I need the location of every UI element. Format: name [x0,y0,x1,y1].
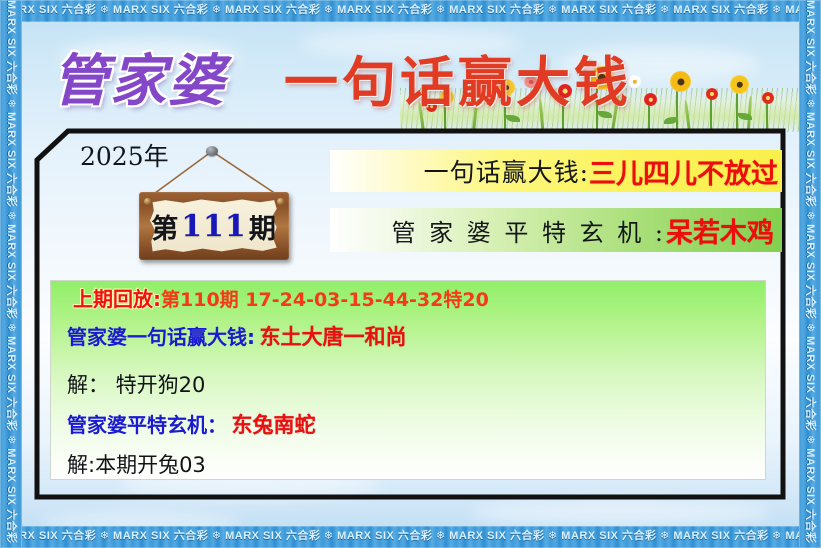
border-right-text: MARX SIX 六合彩 ❄ MARX SIX 六合彩 ❄ MARX SIX 六… [804,0,815,548]
border-top: MARX SIX 六合彩 ❄ MARX SIX 六合彩 ❄ MARX SIX 六… [0,0,821,22]
banner-yellow-label: 一句话赢大钱: [424,153,589,189]
recap-numbers: 17-24-03-15-44-32 [245,289,443,311]
page-title-slogan: 一句话赢大钱 [284,38,632,117]
phrase-row: 管家婆一句话赢大钱: 东土大唐一和尚 [67,327,406,348]
explanation-2-text: 解:本期开兔03 [67,453,206,477]
issue-number-display: 第111期 [139,192,289,260]
explanation-1-text: 解： 特开狗20 [67,373,205,397]
recap-special-number: 20 [462,289,488,311]
xuanji-row: 管家婆平特玄机： 东兔南蛇 [67,415,315,436]
issue-prefix: 第 [151,207,179,246]
explanation-row-1: 解： 特开狗20 [67,375,205,396]
explanation-row-2: 解:本期开兔03 [67,455,206,476]
recap-row: 上期回放:第110期 17-24-03-15-44-32特20 [73,289,489,310]
issue-number: 111 [179,209,249,244]
page-title-brand: 管家婆 [52,36,226,117]
banner-yellow-value: 三儿四儿不放过 [589,152,778,191]
phrase-label: 管家婆一句话赢大钱: [67,325,255,349]
border-bottom-text: MARX SIX 六合彩 ❄ MARX SIX 六合彩 ❄ MARX SIX 六… [1,531,821,542]
recap-label: 上期回放: [73,287,161,311]
border-right: MARX SIX 六合彩 ❄ MARX SIX 六合彩 ❄ MARX SIX 六… [799,0,821,548]
cloud-decor [470,500,770,526]
sign-board: 第111期 [139,192,289,260]
banner-one-phrase: 一句话赢大钱:三儿四儿不放过 [330,150,782,192]
poster-page: 管家婆 一句话赢大钱 [0,0,821,548]
banner-green-value: 呆若木鸡 [666,211,774,250]
banner-green-label: 管 家 婆 平 特 玄 机 : [392,213,667,248]
content-box: 上期回放:第110期 17-24-03-15-44-32特20 管家婆一句话赢大… [50,280,766,480]
sign-nail-icon [206,146,218,156]
border-left-text: MARX SIX 六合彩 ❄ MARX SIX 六合彩 ❄ MARX SIX 六… [5,0,16,548]
xuanji-label: 管家婆平特玄机： [67,413,227,437]
banner-pingte-xuanji: 管 家 婆 平 特 玄 机 :呆若木鸡 [330,208,782,252]
border-top-text: MARX SIX 六合彩 ❄ MARX SIX 六合彩 ❄ MARX SIX 六… [1,5,821,16]
recap-issue: 第110期 [161,289,239,311]
border-bottom: MARX SIX 六合彩 ❄ MARX SIX 六合彩 ❄ MARX SIX 六… [0,526,821,548]
main-panel: 2025年 第111期 一句话赢大钱:三儿四儿不放过 管 家 婆 平 特 玄 机… [34,128,786,500]
border-left: MARX SIX 六合彩 ❄ MARX SIX 六合彩 ❄ MARX SIX 六… [0,0,22,548]
xuanji-value: 东兔南蛇 [231,413,315,437]
recap-special-prefix: 特 [443,289,462,311]
header: 管家婆 一句话赢大钱 [22,22,799,132]
phrase-value: 东土大唐一和尚 [259,325,406,349]
issue-suffix: 期 [249,207,277,246]
hanging-sign: 第111期 [89,146,329,266]
